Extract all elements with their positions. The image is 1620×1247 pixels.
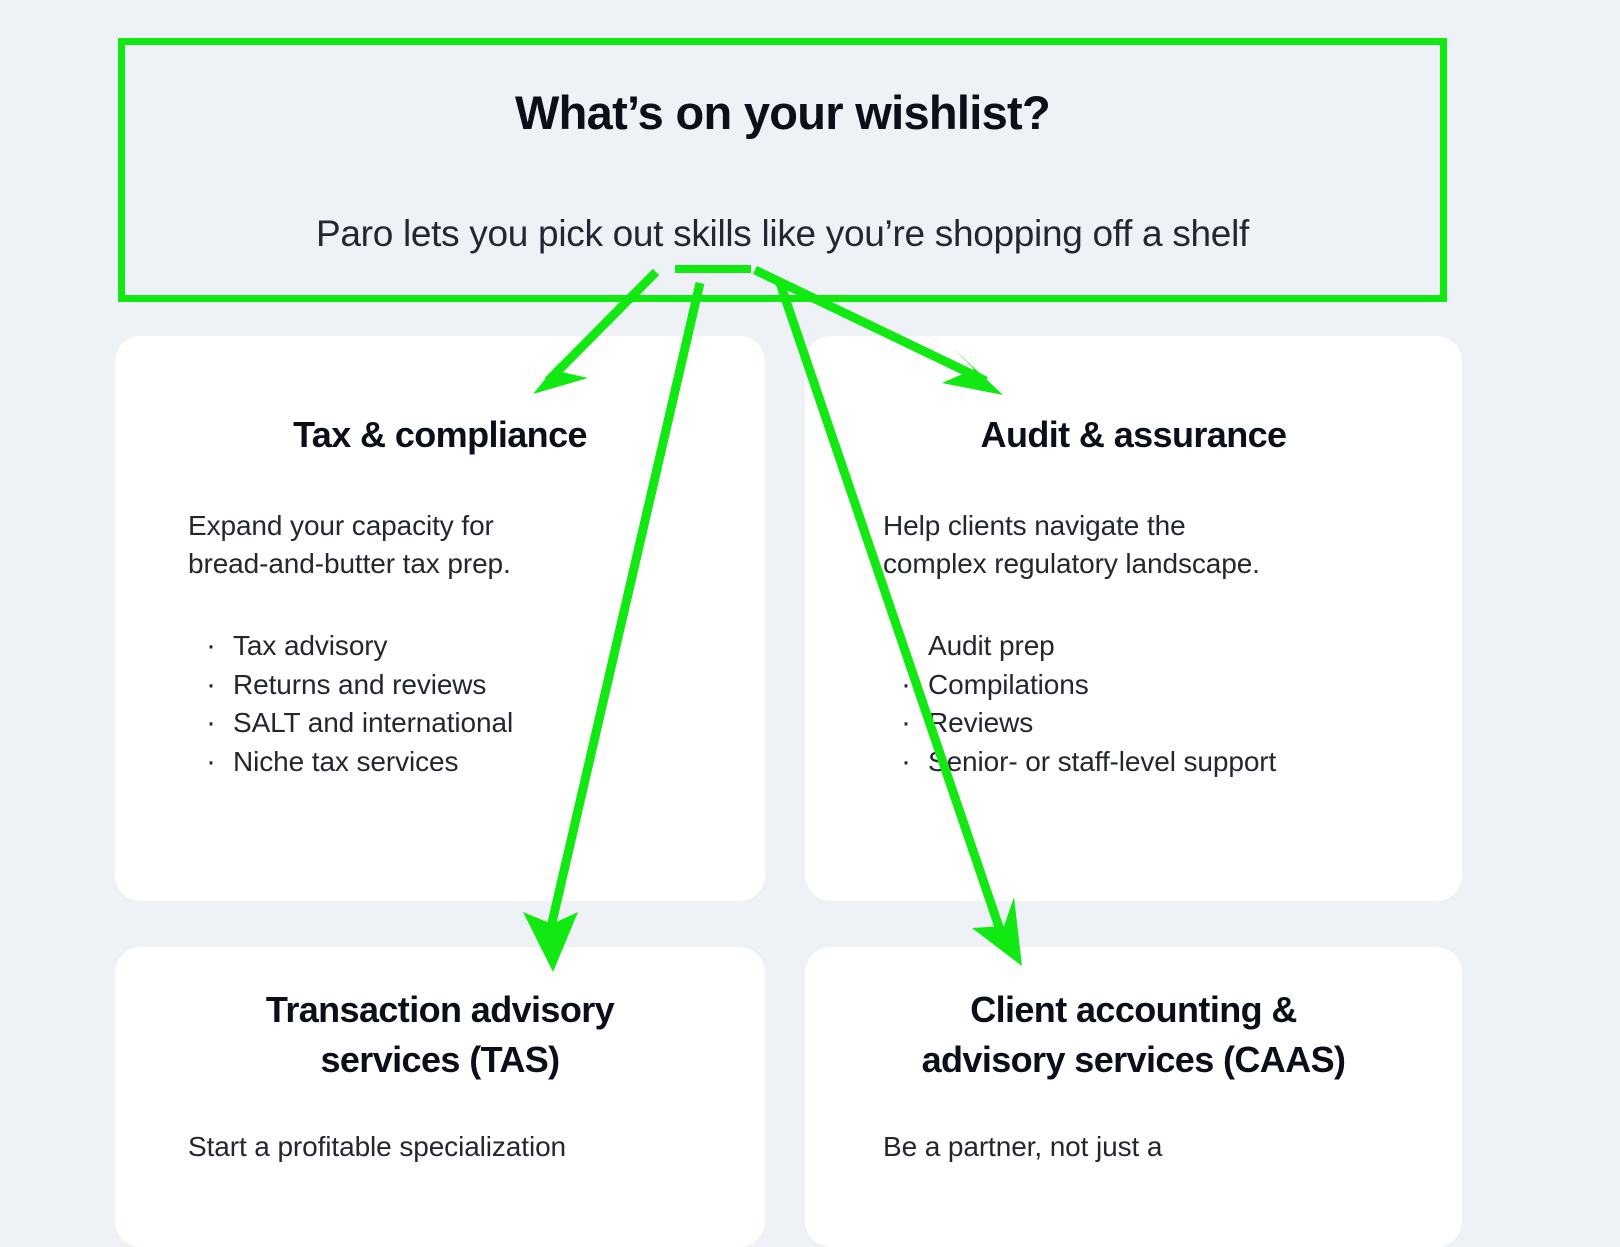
list-item: Niche tax services (205, 743, 765, 782)
card-title-client-accounting-advisory-services: Client accounting & advisory services (C… (805, 985, 1462, 1084)
card-body-client-accounting-advisory-services: Be a partner, not just a (883, 1128, 1462, 1167)
card-list-audit-assurance: Audit prep Compilations Reviews Senior- … (900, 627, 1462, 782)
skills-underline (675, 265, 750, 273)
card-title-transaction-advisory-services: Transaction advisory services (TAS) (115, 985, 765, 1084)
list-item: Compilations (900, 666, 1462, 705)
card-body-line: bread-and-butter tax prep. (188, 545, 765, 584)
card-tax-compliance[interactable]: Tax & compliance Expand your capacity fo… (115, 336, 765, 901)
card-body-audit-assurance: Help clients navigate the complex regula… (883, 507, 1462, 584)
subtitle-emphasis-skills: skills (673, 212, 751, 256)
subtitle-text-before: Paro lets you pick out (316, 213, 673, 254)
card-body-line: complex regulatory landscape. (883, 545, 1462, 584)
subtitle-text-after: like you’re shopping off a shelf (752, 213, 1249, 254)
card-title-audit-assurance: Audit & assurance (805, 410, 1462, 460)
card-title-line: advisory services (CAAS) (829, 1035, 1438, 1085)
card-title-line: services (TAS) (139, 1035, 741, 1085)
card-body-line: Help clients navigate the (883, 507, 1462, 546)
card-client-accounting-advisory-services[interactable]: Client accounting & advisory services (C… (805, 947, 1462, 1247)
list-item: Reviews (900, 704, 1462, 743)
page-title: What’s on your wishlist? (125, 87, 1440, 139)
card-body-line: Be a partner, not just a (883, 1128, 1462, 1167)
card-body-line: Expand your capacity for (188, 507, 765, 546)
list-item: Senior- or staff-level support (900, 743, 1462, 782)
card-body-tax-compliance: Expand your capacity for bread-and-butte… (188, 507, 765, 584)
card-title-line: Client accounting & (829, 985, 1438, 1035)
list-item: SALT and international (205, 704, 765, 743)
header-highlight-box: What’s on your wishlist? Paro lets you p… (118, 38, 1447, 302)
card-transaction-advisory-services[interactable]: Transaction advisory services (TAS) Star… (115, 947, 765, 1247)
list-item: Audit prep (900, 627, 1462, 666)
card-title-line: Transaction advisory (139, 985, 741, 1035)
card-title-tax-compliance: Tax & compliance (115, 410, 765, 460)
subtitle-emphasis-label: skills (673, 213, 751, 254)
card-body-transaction-advisory-services: Start a profitable specialization (188, 1128, 765, 1167)
slide-canvas: What’s on your wishlist? Paro lets you p… (0, 0, 1620, 1215)
card-list-tax-compliance: Tax advisory Returns and reviews SALT an… (205, 627, 765, 782)
card-body-line: Start a profitable specialization (188, 1128, 765, 1167)
card-audit-assurance[interactable]: Audit & assurance Help clients navigate … (805, 336, 1462, 901)
list-item: Tax advisory (205, 627, 765, 666)
page-subtitle: Paro lets you pick out skills like you’r… (125, 212, 1440, 256)
list-item: Returns and reviews (205, 666, 765, 705)
